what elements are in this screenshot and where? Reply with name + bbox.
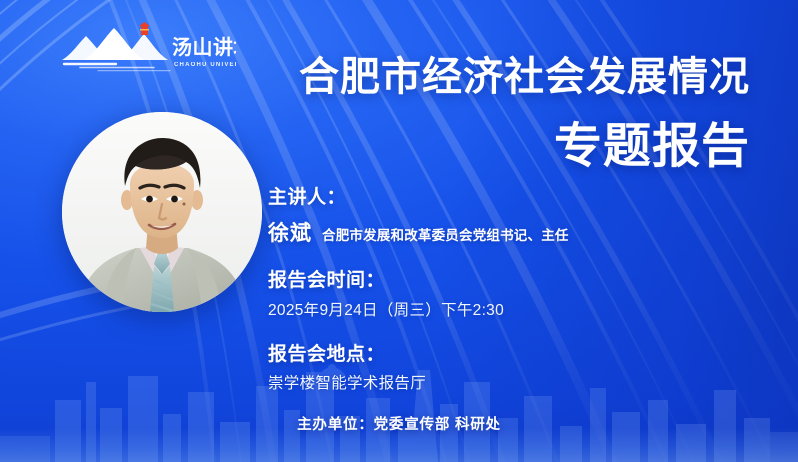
speaker-name: 徐斌 [268,217,312,247]
speaker-section: 主讲人： 徐斌 合肥市发展和改革委员会党组书记、主任 [268,186,688,247]
speaker-portrait [62,112,262,312]
logo-name-cn: 汤山讲坛 [172,35,236,59]
pagoda-icon [139,22,150,35]
speaker-label: 主讲人： [268,186,688,210]
chaohu-university-logo: 汤山讲坛 CHAOHU UNIVERSITY [58,22,236,78]
speaker-title: 合肥市发展和改革委员会党组书记、主任 [322,224,569,244]
headline-line-1: 合肥市经济社会发展情况 [299,56,750,98]
place-label: 报告会地点： [268,343,688,367]
poster-footer: 主办单位：党委宣传部 科研处 [0,413,798,434]
place-section: 报告会地点： 崇学楼智能学术报告厅 [268,343,688,395]
place-value: 崇学楼智能学术报告厅 [268,374,688,394]
poster-canvas: 汤山讲坛 CHAOHU UNIVERSITY [0,0,798,462]
time-label: 报告会时间： [268,269,688,293]
event-info-block: 主讲人： 徐斌 合肥市发展和改革委员会党组书记、主任 报告会时间： 2025年9… [268,186,688,395]
logo-name-en: CHAOHU UNIVERSITY [174,62,236,68]
organizer-text: 主办单位：党委宣传部 科研处 [297,413,501,434]
time-section: 报告会时间： 2025年9月24日（周三）下午2:30 [268,269,688,321]
headline-line-2: 专题报告 [299,122,750,173]
time-value: 2025年9月24日（周三）下午2:30 [268,301,688,321]
speaker-row: 徐斌 合肥市发展和改革委员会党组书记、主任 [268,217,688,247]
poster-headline: 合肥市经济社会发展情况 专题报告 [299,56,750,173]
